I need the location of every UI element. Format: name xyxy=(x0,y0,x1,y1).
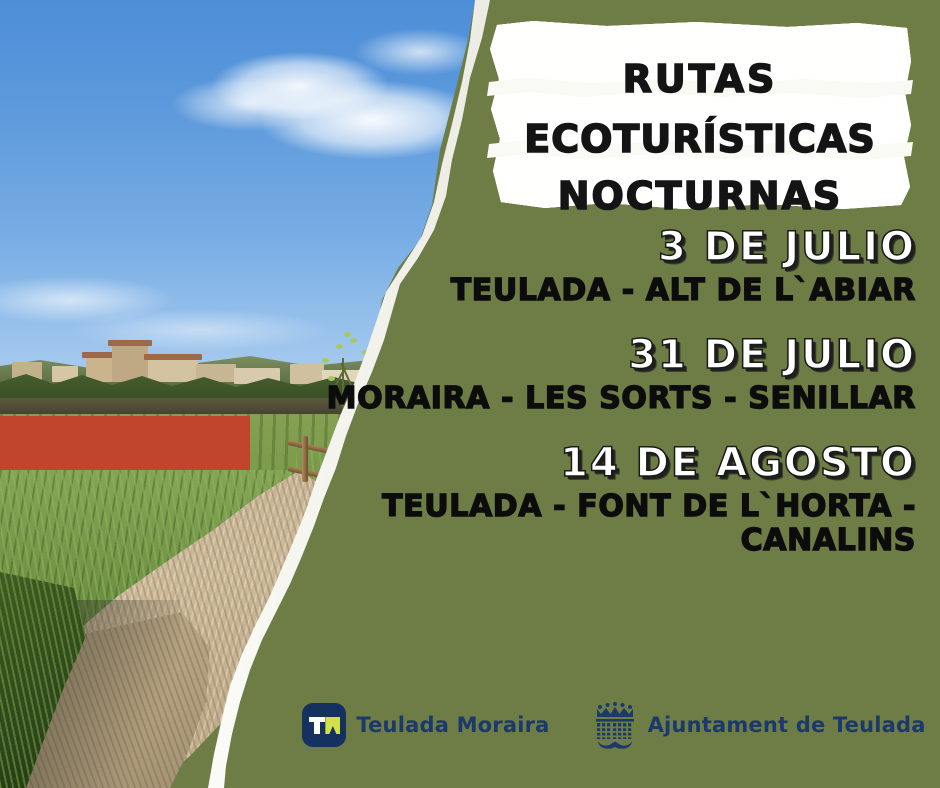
route-date: 31 DE JULIO xyxy=(300,334,916,376)
title-line-2: ECOTURÍSTICAS xyxy=(487,117,913,161)
route-name: TEULADA - ALT DE L`ABIAR xyxy=(300,274,916,308)
logo-teulada-moraira: Teulada Moraira xyxy=(302,703,549,747)
logo-label-council: Ajuntament de Teulada xyxy=(648,713,926,737)
route-date: 3 DE JULIO xyxy=(300,226,916,268)
poster-root: Rural walking path with gravel trail, wo… xyxy=(0,0,940,788)
title-line-1: RUTAS xyxy=(487,57,913,101)
letter-m-icon xyxy=(325,717,340,734)
logo-label-tourism: Teulada Moraira xyxy=(356,713,549,737)
route-entry: 3 DE JULIO TEULADA - ALT DE L`ABIAR xyxy=(300,226,928,308)
coat-of-arms-icon xyxy=(592,700,638,750)
logo-ajuntament-teulada: Ajuntament de Teulada xyxy=(592,700,926,750)
roof xyxy=(144,354,202,360)
route-list: 3 DE JULIO TEULADA - ALT DE L`ABIAR 31 D… xyxy=(300,226,928,584)
route-entry: 31 DE JULIO MORAIRA - LES SORTS - SENILL… xyxy=(300,334,928,416)
route-name: TEULADA - FONT DE L`HORTA - CANALINS xyxy=(300,490,916,557)
roof xyxy=(108,340,152,346)
route-date: 14 DE AGOSTO xyxy=(300,442,916,484)
building xyxy=(148,358,198,382)
route-name: MORAIRA - LES SORTS - SENILLAR xyxy=(300,382,916,416)
title-block: RUTAS ECOTURÍSTICAS NOCTURNAS xyxy=(487,21,913,209)
tm-monogram-icon xyxy=(302,703,346,747)
route-entry: 14 DE AGOSTO TEULADA - FONT DE L`HORTA -… xyxy=(300,442,928,558)
letter-t-icon xyxy=(309,717,325,734)
title-line-3: NOCTURNAS xyxy=(487,174,913,218)
logo-bar: Teulada Moraira xyxy=(300,694,928,756)
